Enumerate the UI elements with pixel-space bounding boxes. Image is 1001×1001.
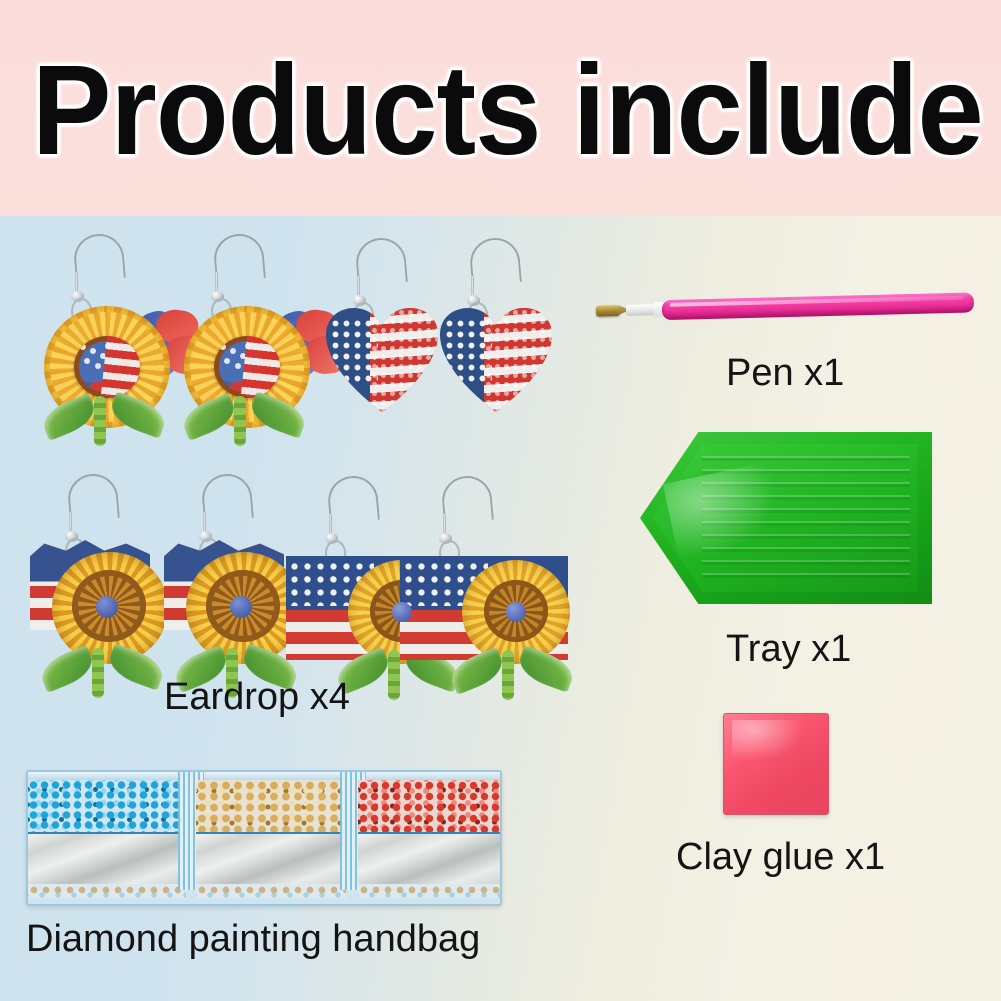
- flag-center: [96, 596, 118, 618]
- earring-hook-icon: [324, 474, 384, 566]
- flag-rectangle-sunflower-earring: [400, 546, 578, 706]
- rhinestones-blue: [28, 780, 186, 836]
- handbag-caption: Diamond painting handbag: [26, 918, 480, 961]
- pen-barrel: [662, 292, 974, 320]
- diamond-painting-tray: [640, 432, 932, 604]
- pouch-red: [358, 780, 502, 898]
- rhinestones-red: [358, 780, 502, 836]
- glue-caption: Clay glue x1: [676, 836, 885, 879]
- product-include-infographic: Products include: [0, 0, 1001, 1001]
- diamond-painting-handbag: [26, 770, 502, 906]
- pouch-gold: [196, 780, 346, 898]
- american-flag-heart-earring: [326, 308, 438, 412]
- american-flag-heart-earring: [440, 308, 552, 412]
- flag-center: [506, 602, 526, 622]
- flag-center: [230, 596, 252, 618]
- tray-caption: Tray x1: [726, 628, 851, 671]
- leaves: [178, 396, 328, 452]
- rhinestones-mix: [196, 884, 346, 898]
- flag-center: [214, 336, 280, 398]
- sunflower-butterfly-earring: [178, 296, 346, 446]
- rhinestones-mix: [28, 884, 186, 898]
- diamond-painting-pen: [596, 283, 979, 336]
- flag-center: [74, 336, 140, 398]
- pouch-blue: [28, 780, 186, 898]
- pen-caption: Pen x1: [726, 352, 844, 395]
- leaves: [446, 650, 566, 706]
- rhinestones-mix: [358, 884, 502, 898]
- flag-center: [392, 602, 412, 622]
- foil-label: [358, 832, 502, 890]
- clay-glue-square: [723, 713, 829, 815]
- leaves: [38, 396, 188, 452]
- foil-label: [28, 832, 186, 890]
- header-banner: Products include: [0, 0, 1001, 216]
- bag-seal-strip: [28, 772, 500, 780]
- earring-hook-icon: [438, 474, 498, 566]
- product-stage: Eardrop x4 Diamond painting han: [0, 216, 1001, 1001]
- foil-label: [196, 832, 346, 890]
- pen-metal-tip-icon: [596, 305, 620, 317]
- page-title: Products include: [32, 46, 983, 176]
- rhinestones-gold: [196, 780, 346, 836]
- eardrop-caption: Eardrop x4: [164, 676, 350, 719]
